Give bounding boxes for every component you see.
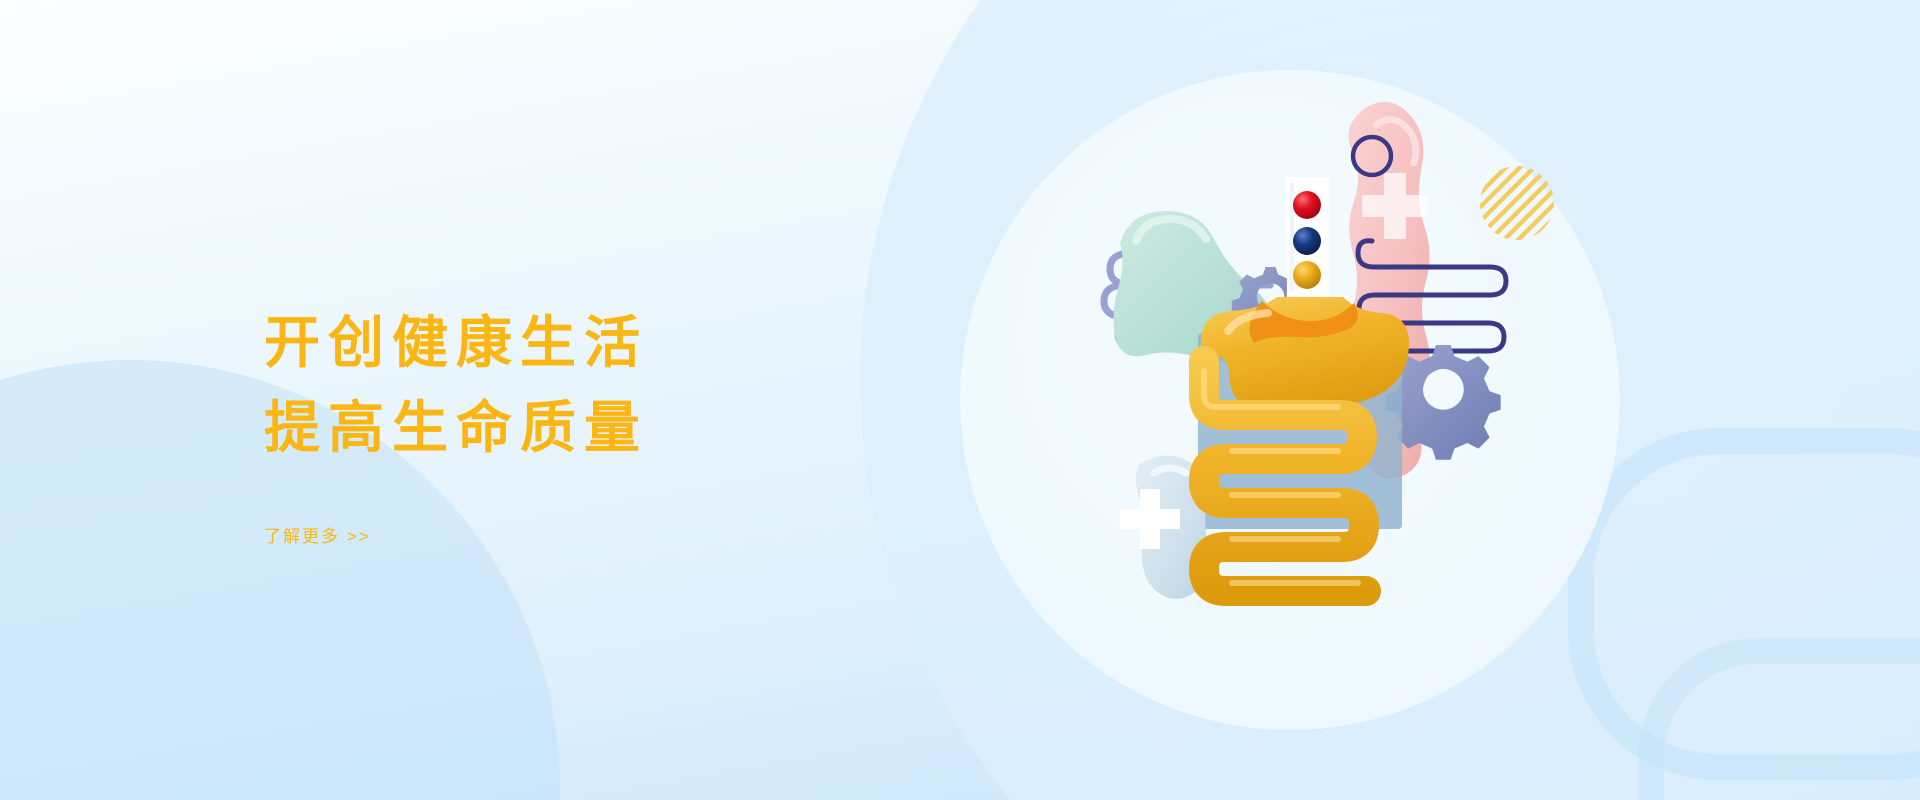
- striped-circle-icon: [1480, 166, 1554, 240]
- pill-dot-red: [1293, 191, 1321, 219]
- digestive-system-illustration: [1080, 95, 1560, 615]
- background-ring-right-lower: [1638, 638, 1920, 800]
- pill-dot-navy: [1293, 227, 1321, 255]
- headline-line-2: 提高生命质量: [264, 385, 824, 470]
- background-ring-right: [1568, 428, 1920, 780]
- pill-dot-yellow: [1293, 261, 1321, 289]
- hero-banner: 开创健康生活 提高生命质量 了解更多 >>: [0, 0, 1920, 800]
- headline-line-1: 开创健康生活: [264, 300, 824, 385]
- hero-copy: 开创健康生活 提高生命质量 了解更多 >>: [264, 300, 824, 547]
- learn-more-link[interactable]: 了解更多 >>: [264, 522, 371, 547]
